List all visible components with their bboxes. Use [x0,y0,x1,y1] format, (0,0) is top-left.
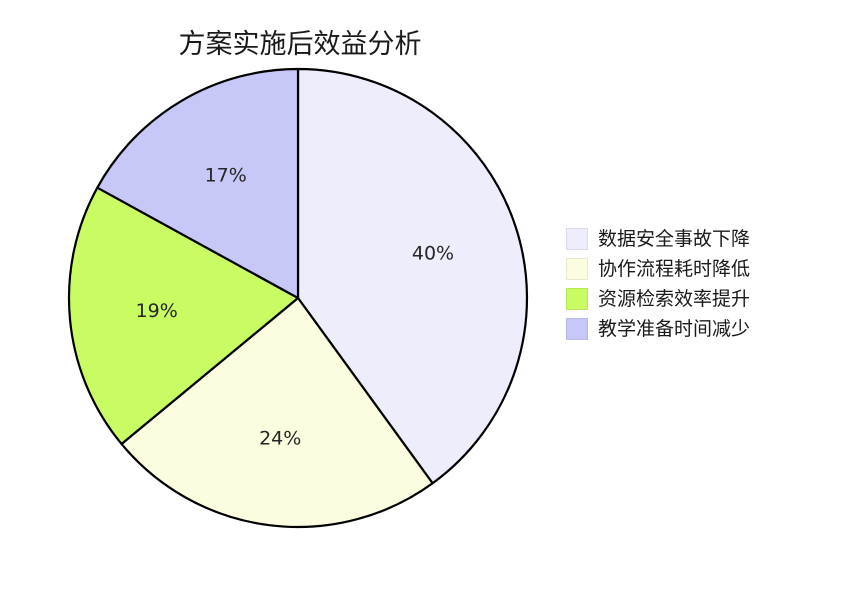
legend-item[interactable]: 数据安全事故下降 [566,224,750,254]
pie-slices-group [69,69,527,527]
legend-item-label: 协作流程耗时降低 [598,260,750,279]
legend-item[interactable]: 资源检索效率提升 [566,284,750,314]
chart-legend: 数据安全事故下降协作流程耗时降低资源检索效率提升教学准备时间减少 [566,224,750,344]
legend-item-label: 数据安全事故下降 [598,230,750,249]
pie-slice-percent-label: 19% [136,300,178,322]
legend-color-swatch [566,228,588,250]
pie-slice-percent-label: 40% [412,243,454,265]
legend-item-label: 教学准备时间减少 [598,320,750,339]
legend-item[interactable]: 教学准备时间减少 [566,314,750,344]
chart-figure: 方案实施后效益分析 40%24%19%17% 数据安全事故下降协作流程耗时降低资… [0,0,844,590]
legend-color-swatch [566,258,588,280]
legend-color-swatch [566,288,588,310]
legend-item-label: 资源检索效率提升 [598,290,750,309]
legend-color-swatch [566,318,588,340]
legend-item[interactable]: 协作流程耗时降低 [566,254,750,284]
pie-slice-percent-label: 17% [205,164,247,186]
pie-slice-percent-label: 24% [259,427,301,449]
